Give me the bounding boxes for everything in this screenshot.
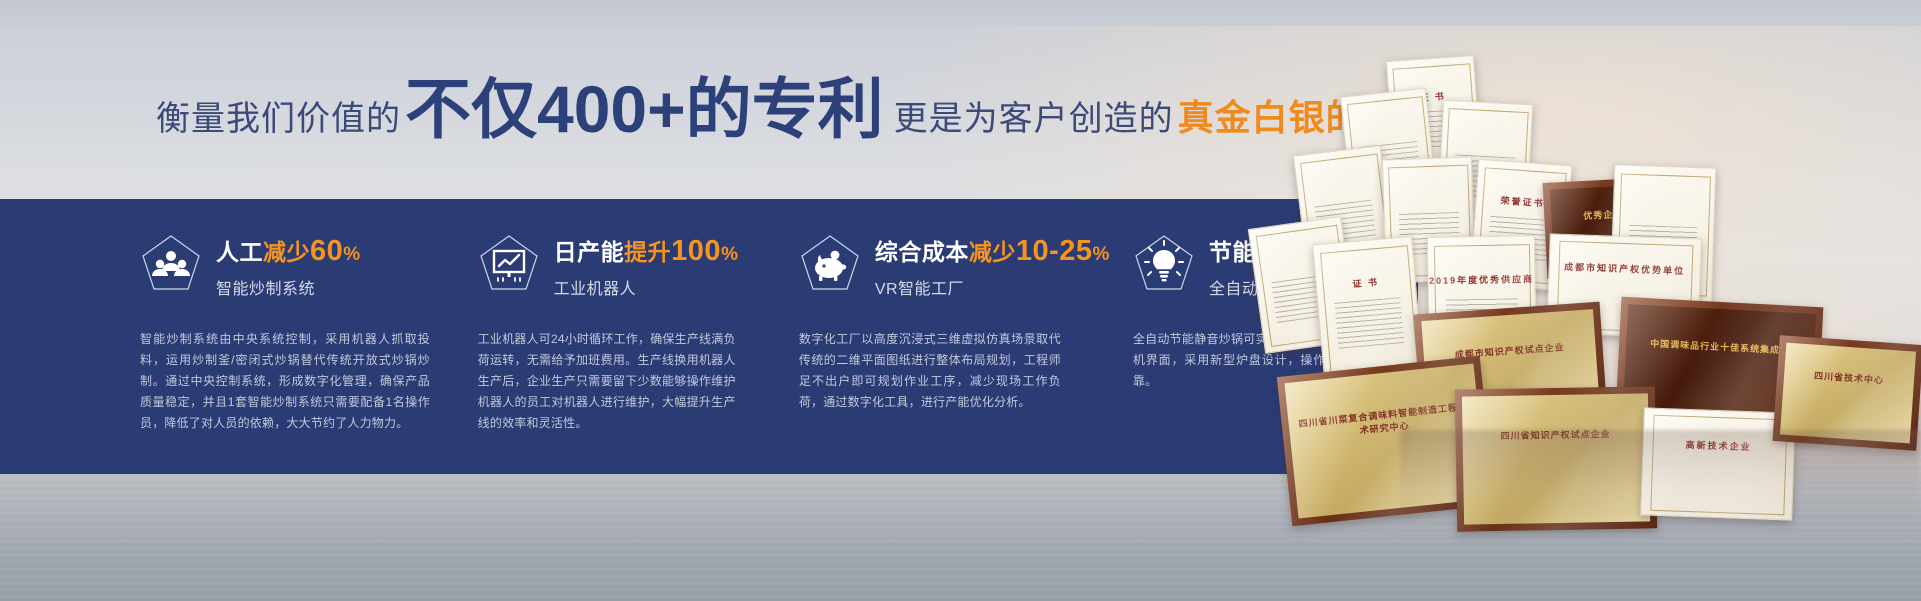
stat-em-2: 提升: [624, 239, 671, 265]
feature-stat-3: 综合成本减少10-25%: [875, 236, 1110, 268]
feature-column-1: 人工减少60% 智能炒制系统 智能炒制系统由中央系统控制，采用机器人抓取投料，运…: [140, 199, 454, 474]
stat-number-2: 100: [671, 235, 721, 267]
certificate-title: 2019年度优秀供应商: [1428, 272, 1534, 287]
feature-text-1: 人工减少60% 智能炒制系统: [216, 231, 361, 299]
feature-stat-1: 人工减少60%: [216, 236, 361, 268]
feature-panel: 人工减少60% 智能炒制系统 智能炒制系统由中央系统控制，采用机器人抓取投料，运…: [0, 199, 1418, 474]
award-title: 四川省技术中心: [1789, 367, 1909, 388]
feature-columns: 人工减少60% 智能炒制系统 智能炒制系统由中央系统控制，采用机器人抓取投料，运…: [0, 199, 1418, 474]
banner-stage: 衡量我们价值的 不仅400+的专利 更是为客户创造的 真金白银的效益: [0, 0, 1921, 601]
feature-text-3: 综合成本减少10-25% VR智能工厂: [875, 231, 1110, 299]
feature-text-2: 日产能提升100% 工业机器人: [554, 231, 739, 299]
stat-prefix-1: 人工: [216, 239, 263, 265]
feature-stat-2: 日产能提升100%: [554, 236, 739, 268]
chart-board-icon: [478, 233, 540, 295]
feature-body-2: 工业机器人可24小时循环工作，确保生产线满负荷运转，无需给予加班费用。生产线换用…: [478, 329, 736, 434]
headline-middle: 更是为客户创造的: [894, 91, 1174, 140]
stat-em-1: 减少: [263, 239, 310, 265]
feature-body-3: 数字化工厂以高度沉浸式三维虚拟仿真场景取代传统的二维平面图纸进行整体布局规划，工…: [799, 329, 1061, 413]
headline: 衡量我们价值的 不仅400+的专利 更是为客户创造的 真金白银的效益: [156, 76, 1437, 146]
feature-subtitle-3: VR智能工厂: [875, 275, 1110, 299]
stat-number-3: 10-25: [1016, 235, 1093, 267]
stat-unit-2: %: [721, 244, 738, 265]
feature-subtitle-1: 智能炒制系统: [216, 275, 361, 299]
stat-prefix-3: 综合成本: [875, 239, 969, 265]
feature-header-2: 日产能提升100% 工业机器人: [478, 231, 763, 299]
feature-column-3: 综合成本减少10-25% VR智能工厂 数字化工厂以高度沉浸式三维虚拟仿真场景取…: [799, 199, 1099, 474]
stat-em-3: 减少: [969, 239, 1016, 265]
certificate-item: 证 书: [1312, 236, 1423, 380]
feature-header-1: 人工减少60% 智能炒制系统: [140, 231, 454, 299]
piggy-bank-icon: [799, 233, 861, 295]
headline-lead: 衡量我们价值的: [156, 91, 401, 140]
headline-highlight: 不仅400+的专利: [405, 76, 884, 142]
top-band: [0, 0, 1921, 26]
team-people-icon: [140, 233, 202, 295]
stat-unit-3: %: [1093, 244, 1110, 265]
stat-prefix-2: 日产能: [554, 239, 625, 265]
lightbulb-icon: [1133, 233, 1195, 295]
feature-body-1: 智能炒制系统由中央系统控制，采用机器人抓取投料，运用炒制釜/密闭式炒锅替代传统开…: [140, 329, 430, 434]
feature-column-2: 日产能提升100% 工业机器人 工业机器人可24小时循环工作，确保生产线满负荷运…: [478, 199, 763, 474]
feature-subtitle-2: 工业机器人: [554, 275, 739, 299]
stat-number-1: 60: [310, 235, 343, 267]
collage-reflection: [1400, 430, 1920, 535]
stat-unit-1: %: [343, 244, 360, 265]
feature-header-3: 综合成本减少10-25% VR智能工厂: [799, 231, 1099, 299]
